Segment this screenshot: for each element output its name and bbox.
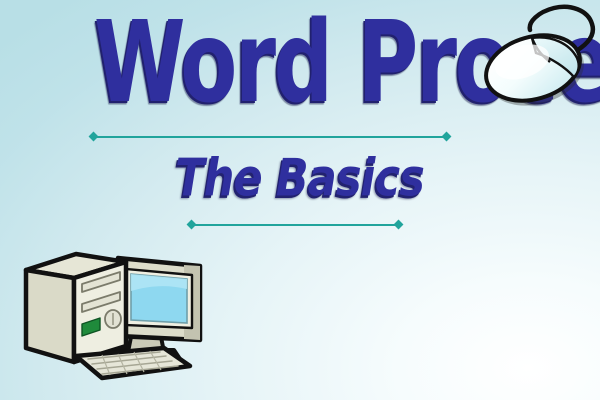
- rule-line: [192, 224, 398, 226]
- horizontal-rule-bottom: [188, 220, 402, 230]
- horizontal-rule-top: [90, 132, 450, 142]
- rule-line: [94, 136, 446, 138]
- desktop-computer-icon: [14, 244, 210, 390]
- rule-endpoint-right: [442, 132, 452, 142]
- rule-endpoint-right: [394, 220, 404, 230]
- subtitle-block: The Basics: [0, 152, 600, 202]
- page-subtitle: The Basics: [176, 152, 425, 204]
- computer-mouse-icon: [474, 0, 600, 120]
- presentation-slide: Word Processing: [0, 0, 600, 400]
